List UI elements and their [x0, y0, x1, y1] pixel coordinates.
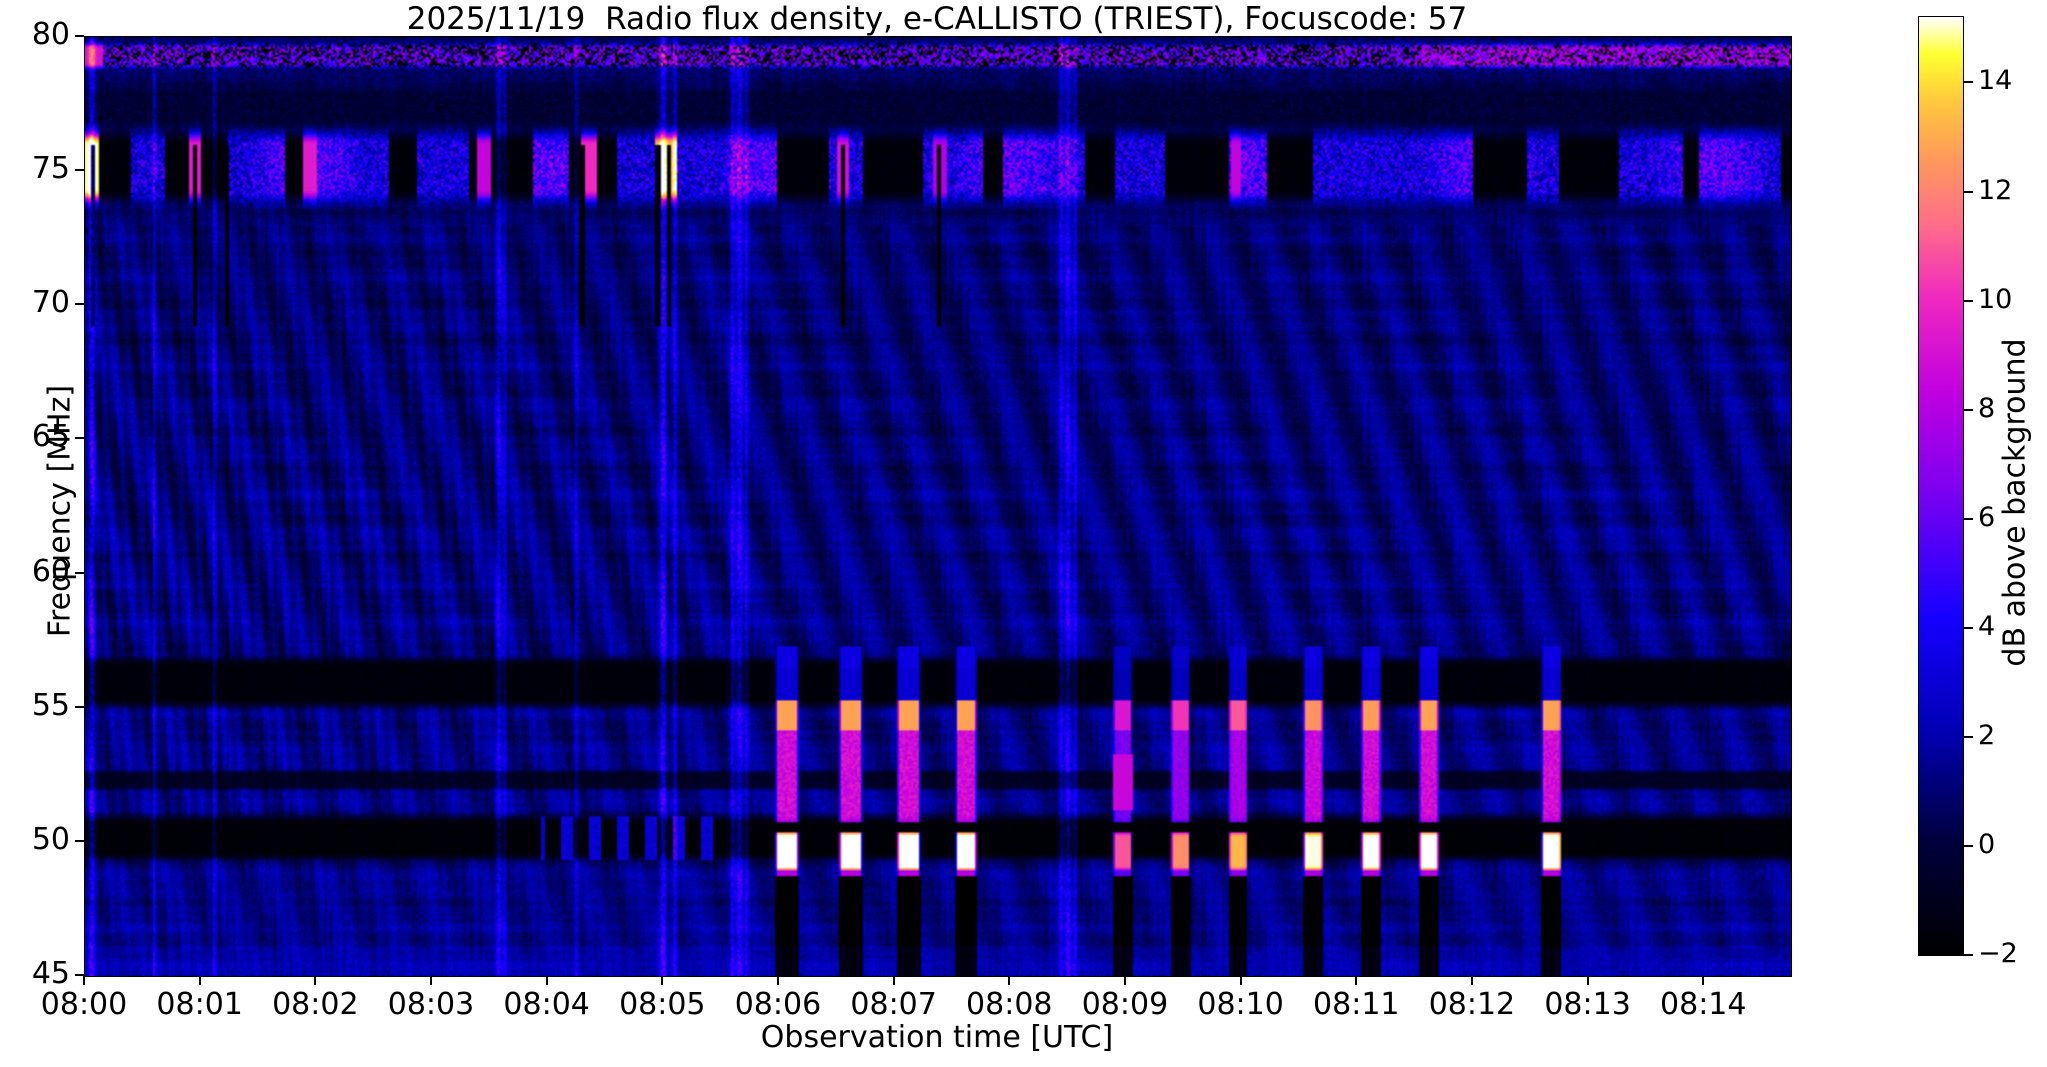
colorbar-tick-label: 6: [1978, 503, 1995, 533]
x-tick-mark: [430, 976, 432, 985]
spectrogram-figure: 2025/11/19 Radio flux density, e-CALLIST…: [0, 0, 2047, 1067]
colorbar-tick-mark: [1964, 845, 1973, 847]
x-tick-mark: [1471, 976, 1473, 985]
colorbar-tick-mark: [1964, 518, 1973, 520]
colorbar-tick-mark: [1964, 81, 1973, 83]
plot-area: [84, 36, 1792, 977]
spectrogram-image: [85, 37, 1791, 976]
colorbar-tick-label: 0: [1978, 830, 1995, 860]
colorbar-tick-mark: [1964, 627, 1973, 629]
x-tick-mark: [1702, 976, 1704, 985]
colorbar-tick-mark: [1964, 300, 1973, 302]
colorbar-tick-label: 4: [1978, 612, 1995, 642]
colorbar: −202468101214: [1918, 16, 1964, 956]
colorbar-tick-mark: [1964, 954, 1973, 956]
x-tick-mark: [1240, 976, 1242, 985]
x-tick-mark: [777, 976, 779, 985]
x-tick-label: 08:14: [1623, 988, 1783, 1021]
colorbar-tick-mark: [1964, 409, 1973, 411]
y-tick-mark: [75, 35, 84, 37]
x-tick-mark: [1124, 976, 1126, 985]
x-axis-label: Observation time [UTC]: [84, 1021, 1790, 1054]
x-tick-mark: [546, 976, 548, 985]
colorbar-tick-mark: [1964, 191, 1973, 193]
x-tick-mark: [893, 976, 895, 985]
x-tick-mark: [661, 976, 663, 985]
x-tick-mark: [83, 976, 85, 985]
x-tick-mark: [1008, 976, 1010, 985]
colorbar-gradient: [1918, 16, 1964, 956]
colorbar-label: dB above background: [1999, 33, 2032, 973]
x-tick-mark: [1587, 976, 1589, 985]
y-axis-label: Frequency [MHz]: [45, 42, 77, 981]
x-tick-mark: [199, 976, 201, 985]
page-title: 2025/11/19 Radio flux density, e-CALLIST…: [84, 2, 1790, 36]
colorbar-tick-label: 8: [1978, 394, 1995, 424]
x-tick-mark: [314, 976, 316, 985]
colorbar-tick-label: 2: [1978, 721, 1995, 751]
colorbar-tick-mark: [1964, 736, 1973, 738]
x-tick-mark: [1355, 976, 1357, 985]
